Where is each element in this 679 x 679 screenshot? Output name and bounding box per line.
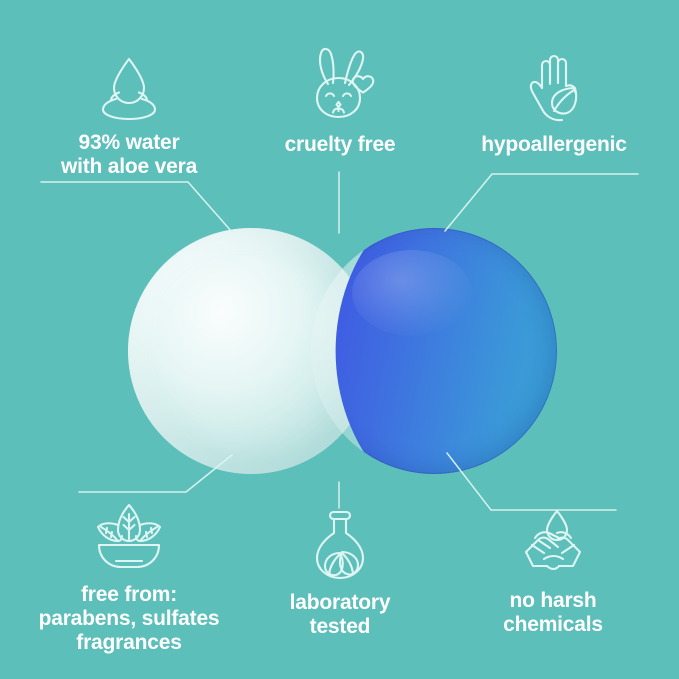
feature-free-from: free from: parabens, sulfates fragrances (16, 500, 242, 655)
feature-cruelty-free: cruelty free (245, 42, 435, 157)
feature-label: no harsh chemicals (503, 589, 603, 637)
feature-label: laboratory tested (290, 591, 391, 639)
feature-label: free from: parabens, sulfates fragrances (39, 583, 220, 655)
product-benefits-infographic: 93% water with aloe vera cr (0, 0, 679, 679)
feature-no-harsh-chemicals: no harsh chemicals (444, 508, 662, 637)
washing-hands-drop-icon (513, 508, 593, 580)
feature-label: 93% water with aloe vera (61, 131, 197, 179)
feature-laboratory-tested: laboratory tested (250, 508, 430, 639)
feature-hypoallergenic: hypoallergenic (447, 50, 661, 157)
hand-leaf-icon (516, 50, 592, 124)
bunny-heart-icon (300, 42, 380, 124)
flask-leaf-icon (307, 508, 373, 582)
feature-label: cruelty free (285, 133, 396, 157)
feature-water-aloe: 93% water with aloe vera (22, 52, 236, 179)
bowl-leaves-icon (89, 500, 169, 574)
water-drop-ripple-icon (92, 52, 166, 122)
feature-label: hypoallergenic (481, 133, 626, 157)
